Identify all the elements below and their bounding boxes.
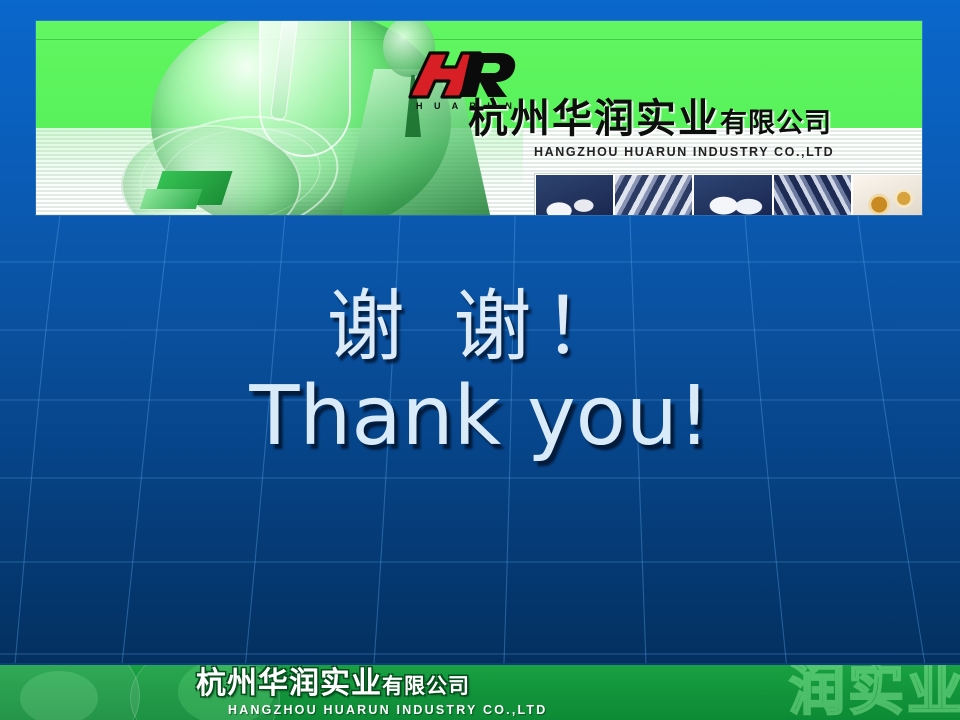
header-company-name-en: HANGZHOU HUARUN INDUSTRY CO.,LTD — [534, 145, 834, 159]
slide-root: H U A R U N 杭州华润实业有限公司 HANGZHOU HUARUN I… — [0, 0, 960, 720]
header-company-name-cn: 杭州华润实业有限公司 — [468, 99, 832, 139]
main-message-block: 谢 谢！ Thank you! — [0, 288, 960, 460]
footer-watermark-text: 润实业 — [789, 663, 960, 719]
footer-company-cn-suffix: 有限公司 — [382, 674, 470, 698]
product-thumb-glass-jars — [853, 175, 922, 215]
header-banner: H U A R U N 杭州华润实业有限公司 HANGZHOU HUARUN I… — [36, 21, 922, 215]
product-thumb-plastic-bottles — [694, 175, 771, 215]
product-thumbnail-strip — [534, 173, 922, 215]
product-thumb-pump-bottles — [536, 175, 613, 215]
product-thumb-syringes-tubes — [615, 175, 692, 215]
footer-company-name-cn: 杭州华润实业有限公司 — [196, 669, 470, 699]
footer-company-cn-main: 杭州华润实业 — [196, 666, 382, 701]
thanks-english-text: Thank you! — [0, 374, 960, 460]
header-company-cn-main: 杭州华润实业 — [468, 96, 720, 142]
footer-decor-circle-2 — [20, 671, 98, 720]
green-sample-chip-2 — [140, 189, 202, 209]
footer-company-name-en: HANGZHOU HUARUN INDUSTRY CO.,LTD — [228, 703, 547, 717]
thanks-chinese-text: 谢 谢！ — [0, 288, 960, 368]
product-thumb-needles-metal — [774, 175, 851, 215]
header-company-cn-suffix: 有限公司 — [720, 108, 832, 139]
footer-bar: 润实业 杭州华润实业有限公司 HANGZHOU HUARUN INDUSTRY … — [0, 663, 960, 720]
